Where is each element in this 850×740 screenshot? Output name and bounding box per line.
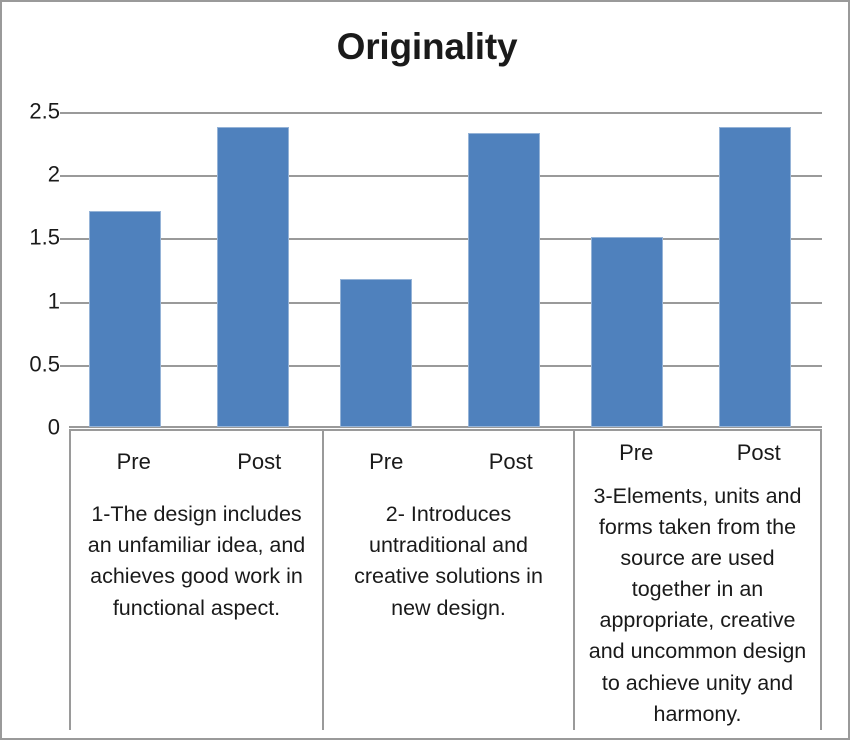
y-axis-labels: 2.5 2 1.5 1 0.5 0 bbox=[2, 112, 60, 428]
category-label-1: 1-The design includes an unfamiliar idea… bbox=[71, 493, 322, 624]
y-tick-label-1: 1 bbox=[4, 288, 60, 314]
category-group-2: Pre Post 2- Introduces untraditional and… bbox=[322, 431, 573, 730]
y-tick-label-0: 0 bbox=[4, 414, 60, 440]
tick-stub-0_5 bbox=[60, 365, 69, 367]
category-label-3: 3-Elements, units and forms taken from t… bbox=[575, 475, 820, 730]
y-tick-label-2: 2 bbox=[4, 162, 60, 188]
series-label-row-2: Pre Post bbox=[324, 431, 573, 493]
plot-area bbox=[69, 112, 822, 428]
bar-pre-group-3 bbox=[591, 237, 663, 427]
tick-stub-1 bbox=[60, 302, 69, 304]
series-label-row-1: Pre Post bbox=[71, 431, 322, 493]
bar-post-group-3 bbox=[719, 127, 791, 427]
bar-post-group-1 bbox=[217, 127, 289, 427]
category-group-3: Pre Post 3-Elements, units and forms tak… bbox=[573, 431, 820, 730]
y-tick-label-1_5: 1.5 bbox=[4, 225, 60, 251]
category-group-1: Pre Post 1-The design includes an unfami… bbox=[71, 431, 322, 730]
tick-stub-2 bbox=[60, 175, 69, 177]
y-tick-label-0_5: 0.5 bbox=[4, 351, 60, 377]
category-label-2: 2- Introduces untraditional and creative… bbox=[324, 493, 573, 624]
bars-layer bbox=[69, 112, 822, 428]
chart-title: Originality bbox=[2, 28, 850, 67]
series-label-pre-3: Pre bbox=[575, 440, 698, 466]
series-label-pre-1: Pre bbox=[71, 449, 197, 475]
series-label-row-3: Pre Post bbox=[575, 431, 820, 475]
series-label-post-3: Post bbox=[698, 440, 821, 466]
tick-stub-1_5 bbox=[60, 238, 69, 240]
series-label-post-1: Post bbox=[197, 449, 323, 475]
bar-pre-group-2 bbox=[340, 279, 412, 427]
series-label-pre-2: Pre bbox=[324, 449, 449, 475]
chart-figure: Originality 2.5 2 1.5 1 0.5 0 Pre Post 1… bbox=[0, 0, 850, 740]
tick-stub-2_5 bbox=[60, 112, 69, 114]
bar-pre-group-1 bbox=[89, 211, 161, 427]
bar-post-group-2 bbox=[468, 133, 540, 428]
y-tick-label-2_5: 2.5 bbox=[4, 98, 60, 124]
series-label-post-2: Post bbox=[449, 449, 574, 475]
category-axis-table: Pre Post 1-The design includes an unfami… bbox=[69, 429, 822, 730]
